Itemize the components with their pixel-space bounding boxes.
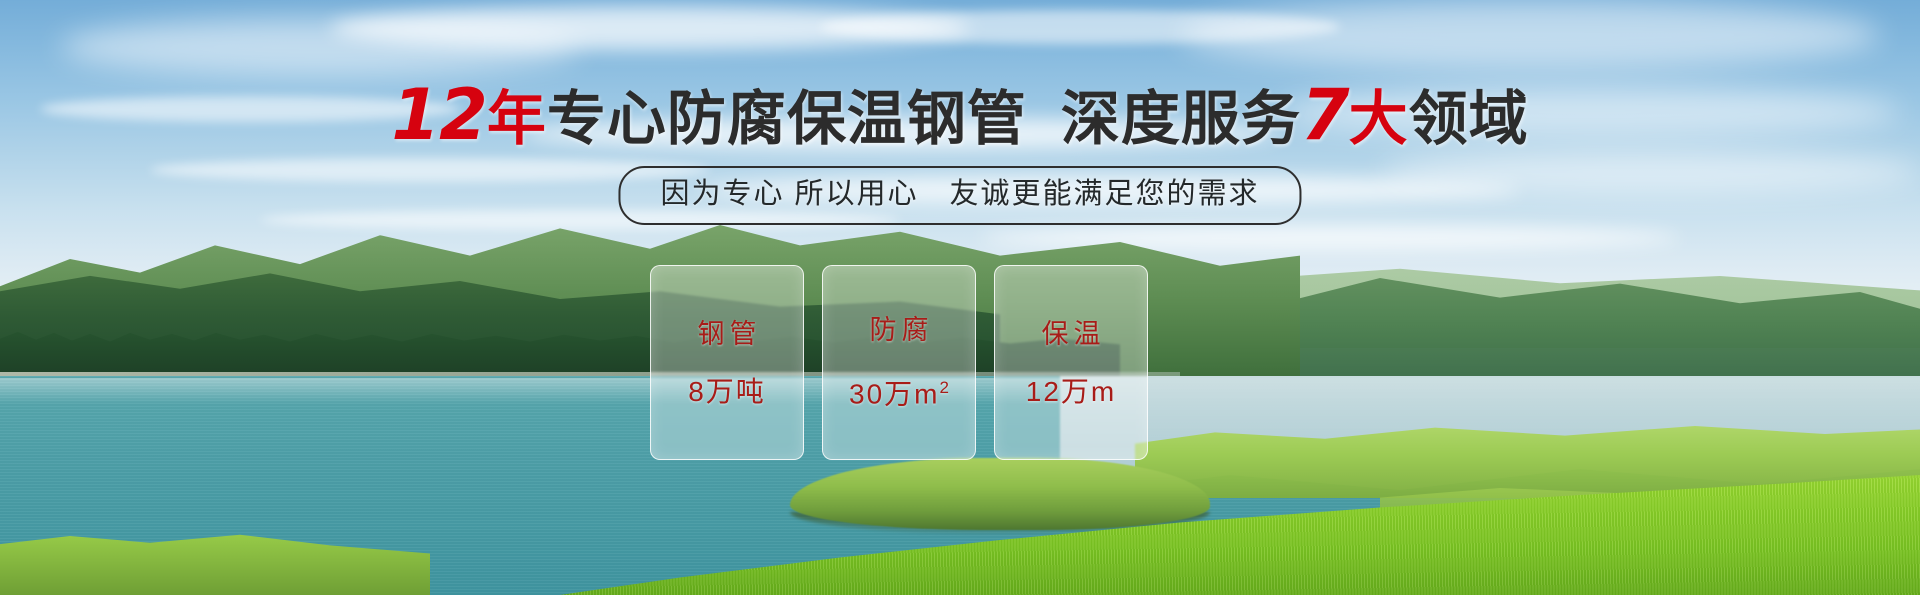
hero-banner: 12年专心防腐保温钢管深度服务7大领域 因为专心 所以用心 友诚更能满足您的需求…	[0, 0, 1920, 595]
headline-fields-tail: 领域	[1409, 86, 1529, 152]
headline-fields-unit: 大	[1349, 86, 1409, 152]
headline-service-text: 深度服务	[1061, 86, 1301, 152]
cloud-shape	[1380, 150, 1920, 194]
stat-card-insulation[interactable]: 保温 12万m	[994, 265, 1148, 460]
stat-card-group: 钢管 8万吨 防腐 30万m2 保温 12万m	[650, 265, 1148, 460]
stat-card-steel-pipe[interactable]: 钢管 8万吨	[650, 265, 804, 460]
stat-card-label: 防腐	[865, 314, 934, 346]
stat-card-value: 8万吨	[688, 376, 766, 408]
headline-years-number: 12	[391, 74, 486, 156]
stat-card-anticorrosion[interactable]: 防腐 30万m2	[822, 265, 976, 460]
stat-card-value-superscript: 2	[940, 378, 949, 397]
cloud-shape	[1180, 0, 1880, 70]
stat-card-value: 12万m	[1026, 376, 1116, 408]
stat-card-value-text: 8万吨	[688, 376, 766, 407]
stat-card-label: 钢管	[693, 318, 762, 350]
headline-fields-number: 7	[1301, 74, 1349, 156]
headline-years-unit: 年	[487, 86, 547, 152]
headline-main-text: 专心防腐保温钢管	[547, 86, 1027, 152]
stat-card-value: 30万m2	[849, 372, 949, 410]
subtitle-pill: 因为专心 所以用心 友诚更能满足您的需求	[618, 166, 1301, 225]
stat-card-value-text: 12万m	[1026, 376, 1116, 407]
headline: 12年专心防腐保温钢管深度服务7大领域	[0, 82, 1920, 152]
stat-card-label: 保温	[1037, 318, 1106, 350]
stat-card-value-text: 30万m	[849, 379, 939, 410]
